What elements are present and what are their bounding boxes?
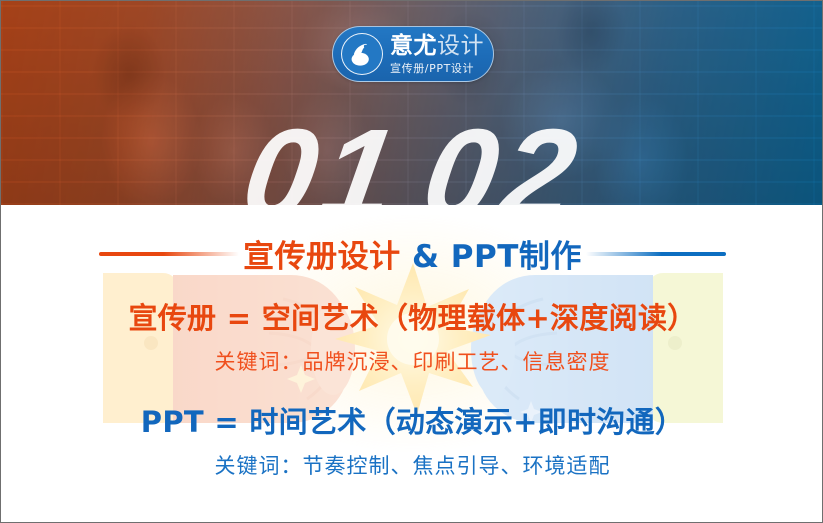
ppt-statement: PPT = 时间艺术（动态演示+即时沟通）	[1, 405, 823, 440]
content-block-brochure: 宣传册 = 空间艺术（物理载体+深度阅读） 关键词：品牌沉浸、印刷工艺、信息密度	[1, 301, 823, 376]
banner-big-numbers: 0102	[1, 111, 823, 205]
banner-number-02: 02	[414, 103, 591, 205]
section-headline-row: 宣传册设计 & PPT制作	[1, 231, 823, 276]
brand-name: 意尤设计	[390, 35, 484, 58]
slide-canvas: 0102 意尤设计 宣传册/PPT设计	[0, 0, 823, 523]
headline-rule-left	[99, 252, 239, 256]
page-title-blue: & PPT制作	[412, 239, 582, 275]
content-block-ppt: PPT = 时间艺术（动态演示+即时沟通） 关键词：节奏控制、焦点引导、环境适配	[1, 405, 823, 480]
headline-rule-right	[586, 252, 726, 256]
brand-name-strong: 意尤	[390, 33, 437, 59]
banner-number-01: 01	[234, 103, 411, 205]
body-content: 宣传册设计 & PPT制作 宣传册 = 空间艺术（物理载体+深度阅读） 关键词：…	[1, 205, 823, 523]
page-title: 宣传册设计 & PPT制作	[243, 231, 582, 276]
brand-logo-text: 意尤设计 宣传册/PPT设计	[390, 35, 484, 74]
brochure-keywords: 关键词：品牌沉浸、印刷工艺、信息密度	[1, 346, 823, 376]
header-banner: 0102 意尤设计 宣传册/PPT设计	[1, 1, 823, 205]
ppt-keywords: 关键词：节奏控制、焦点引导、环境适配	[1, 450, 823, 480]
brand-subtitle: 宣传册/PPT设计	[390, 63, 484, 74]
page-title-orange: 宣传册设计	[243, 239, 401, 275]
brand-logo[interactable]: 意尤设计 宣传册/PPT设计	[332, 26, 494, 82]
brand-name-thin: 设计	[437, 33, 484, 59]
brochure-statement: 宣传册 = 空间艺术（物理载体+深度阅读）	[1, 301, 823, 336]
pen-nib-circle-icon	[341, 33, 383, 75]
